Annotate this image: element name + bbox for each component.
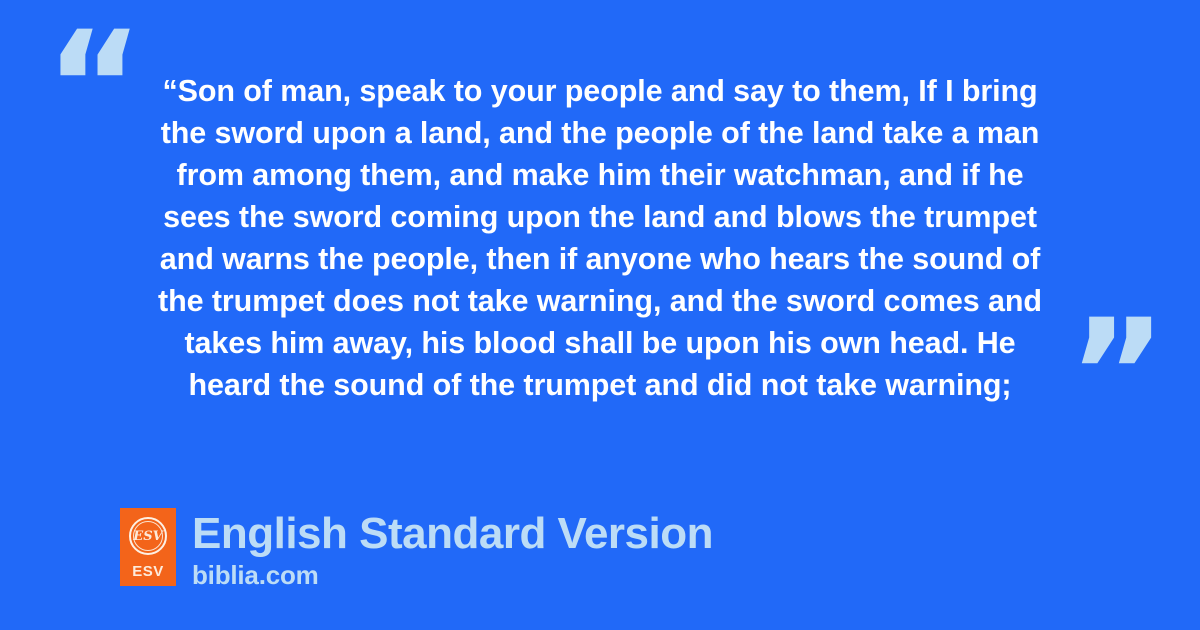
esv-logo-label: ESV — [132, 564, 164, 579]
quote-line: heard the sound of the trumpet and did n… — [100, 364, 1100, 406]
bible-version-title: English Standard Version — [192, 510, 713, 558]
esv-seal-icon: ESV — [129, 517, 167, 555]
quote-line: from among them, and make him their watc… — [100, 154, 1100, 196]
quote-line: “Son of man, speak to your people and sa… — [100, 70, 1100, 112]
quote-line: and warns the people, then if anyone who… — [100, 238, 1100, 280]
brand-footer: ESV ESV English Standard Version biblia.… — [120, 508, 713, 590]
quote-line: the trumpet does not take warning, and t… — [100, 280, 1100, 322]
quote-text-block: “Son of man, speak to your people and sa… — [100, 70, 1100, 406]
quote-line: takes him away, his blood shall be upon … — [100, 322, 1100, 364]
quote-line: sees the sword coming upon the land and … — [100, 196, 1100, 238]
close-quote-icon: ” — [1068, 300, 1165, 450]
esv-seal-monogram: ESV — [133, 530, 162, 543]
quote-line: the sword upon a land, and the people of… — [100, 112, 1100, 154]
esv-logo-icon: ESV ESV — [120, 508, 176, 586]
website-label: biblia.com — [192, 560, 713, 590]
quote-card: “ “Son of man, speak to your people and … — [0, 0, 1200, 630]
brand-copy: English Standard Version biblia.com — [192, 508, 713, 590]
